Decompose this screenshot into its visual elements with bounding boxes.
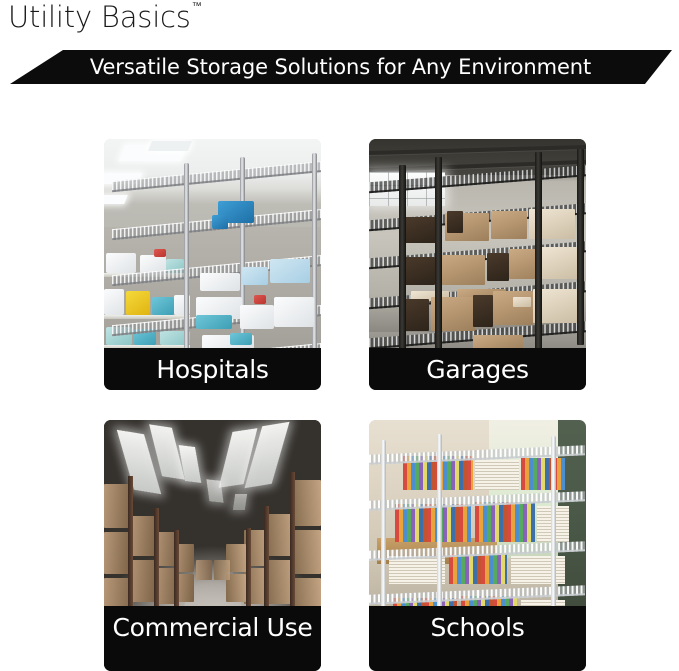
tile-caption-label: Garages [426,355,528,384]
tile-caption-label: Schools [431,613,525,642]
commercial-use-photo: Commercial Use [104,420,321,671]
tile-caption-bar: Hospitals [104,348,321,390]
tile-hospitals[interactable]: Hospitals [104,139,321,390]
rack-upright [399,165,406,361]
supply-bin [230,333,252,345]
rack-upright [577,149,584,345]
category-tile-grid: Hospitals [0,139,679,671]
pallet-stack [292,530,321,574]
supply-bin [196,315,232,329]
shelf-post [184,163,189,349]
tile-commercial-use[interactable]: Commercial Use [104,420,321,671]
ceiling-light-icon [148,141,192,151]
supply-bin [104,289,124,315]
storage-carton [537,247,581,279]
hospitals-photo: Hospitals [104,139,321,390]
schools-photo: Schools [369,420,586,671]
brand-logo: Utility Basics™ [8,2,201,34]
book-row [449,554,507,584]
supply-bin [212,215,228,229]
heavy-duty-rack [387,149,586,353]
rack-upright [290,472,295,626]
paper-stack [475,460,519,490]
trademark-symbol: ™ [192,1,202,12]
supply-bin [270,259,310,283]
book-row [475,502,535,542]
supply-bin [154,249,166,257]
storage-carton [473,295,493,327]
shelf-post [551,436,556,630]
storage-carton [487,253,509,281]
rack-upright [535,152,542,352]
paper-stack [511,556,565,584]
garages-photo: Garages [369,139,586,390]
tile-caption-label: Hospitals [156,355,268,384]
banner-headline: Versatile Storage Solutions for Any Envi… [0,50,679,84]
supply-bin [254,295,266,304]
tile-caption-bar: Garages [369,348,586,390]
pallet-stack [214,560,230,580]
ceiling-light-icon [233,494,247,510]
tile-caption-label: Commercial Use [113,613,313,642]
storage-carton [437,255,485,285]
supply-bin [200,273,240,291]
headline-banner: Versatile Storage Solutions for Any Envi… [0,50,679,86]
supply-bin [240,305,274,329]
supply-bin [274,297,314,327]
tile-schools[interactable]: Schools [369,420,586,671]
tile-caption-bar: Schools [369,606,586,671]
ceiling-light-icon [104,195,128,204]
storage-carton [401,257,435,285]
tile-caption-bar: Commercial Use [104,606,321,671]
pallet-stack [292,480,321,526]
storage-carton [405,217,437,243]
shelf-post [381,440,386,632]
tile-garages[interactable]: Garages [369,139,586,390]
wire-shelf [112,161,321,192]
pallet-stack [104,532,130,574]
storage-carton [447,211,463,233]
supply-bin [242,267,268,285]
supply-bin [126,291,150,315]
book-row [521,458,565,490]
wire-shelving-unit [379,434,575,632]
pallet-stack [130,516,156,556]
storage-carton [491,211,527,239]
rack-upright [128,476,133,624]
storage-carton [513,297,531,307]
pallet-stack [196,560,212,580]
book-row [395,504,471,542]
supply-bin [106,253,136,273]
shelf-post [437,434,442,630]
supply-bin [152,297,174,315]
brand-name: Utility Basics [8,0,191,34]
rack-upright [435,157,442,361]
